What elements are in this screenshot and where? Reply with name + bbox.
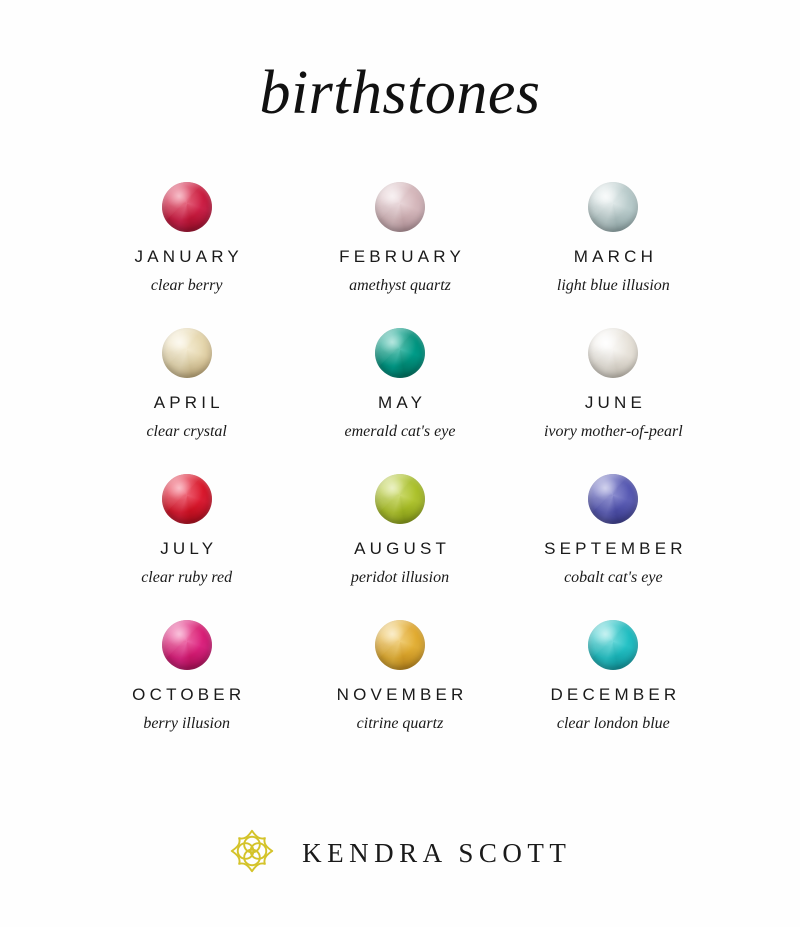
stone-name-label: cobalt cat's eye [564, 569, 663, 587]
month-label: DECEMBER [546, 686, 680, 705]
stone-name-label: clear ruby red [141, 569, 232, 587]
gem-icon [588, 474, 638, 524]
birthstone-cell: DECEMBERclear london blue [507, 620, 720, 766]
month-label: MAY [374, 394, 426, 413]
birthstone-cell: JULYclear ruby red [80, 474, 293, 620]
gem-icon [375, 182, 425, 232]
birthstones-poster: birthstones JANUARYclear berryFEBRUARYam… [0, 0, 800, 927]
birthstone-cell: SEPTEMBERcobalt cat's eye [507, 474, 720, 620]
month-label: APRIL [150, 394, 224, 413]
gem-icon [162, 328, 212, 378]
stone-name-label: berry illusion [143, 715, 230, 733]
month-label: JANUARY [130, 248, 243, 267]
gem-icon [375, 620, 425, 670]
birthstone-cell: JANUARYclear berry [80, 182, 293, 328]
kendra-scott-logo-icon [229, 828, 275, 879]
stone-name-label: emerald cat's eye [345, 423, 456, 441]
birthstone-cell: APRILclear crystal [80, 328, 293, 474]
birthstone-cell: MAYemerald cat's eye [293, 328, 506, 474]
gem-icon [162, 474, 212, 524]
stone-name-label: clear crystal [146, 423, 226, 441]
month-label: AUGUST [350, 540, 450, 559]
gem-icon [375, 474, 425, 524]
stone-name-label: light blue illusion [557, 277, 670, 295]
brand-footer: KENDRA SCOTT [0, 828, 800, 879]
month-label: JUNE [581, 394, 646, 413]
gem-icon [588, 182, 638, 232]
gem-icon [588, 620, 638, 670]
birthstone-cell: OCTOBERberry illusion [80, 620, 293, 766]
stone-name-label: clear berry [151, 277, 223, 295]
stone-name-label: ivory mother-of-pearl [544, 423, 683, 441]
stone-name-label: amethyst quartz [349, 277, 451, 295]
month-label: MARCH [570, 248, 658, 267]
gem-icon [588, 328, 638, 378]
month-label: OCTOBER [128, 686, 245, 705]
gem-icon [162, 182, 212, 232]
stone-name-label: peridot illusion [351, 569, 449, 587]
birthstone-grid: JANUARYclear berryFEBRUARYamethyst quart… [80, 182, 720, 766]
brand-name: KENDRA SCOTT [297, 838, 572, 869]
birthstone-cell: JUNEivory mother-of-pearl [507, 328, 720, 474]
gem-icon [162, 620, 212, 670]
birthstone-cell: MARCHlight blue illusion [507, 182, 720, 328]
birthstone-cell: AUGUSTperidot illusion [293, 474, 506, 620]
birthstone-cell: FEBRUARYamethyst quartz [293, 182, 506, 328]
gem-icon [375, 328, 425, 378]
birthstone-cell: NOVEMBERcitrine quartz [293, 620, 506, 766]
month-label: NOVEMBER [332, 686, 467, 705]
month-label: SEPTEMBER [540, 540, 687, 559]
stone-name-label: clear london blue [557, 715, 670, 733]
stone-name-label: citrine quartz [357, 715, 444, 733]
month-label: FEBRUARY [335, 248, 465, 267]
month-label: JULY [156, 540, 217, 559]
page-title: birthstones [259, 62, 540, 124]
